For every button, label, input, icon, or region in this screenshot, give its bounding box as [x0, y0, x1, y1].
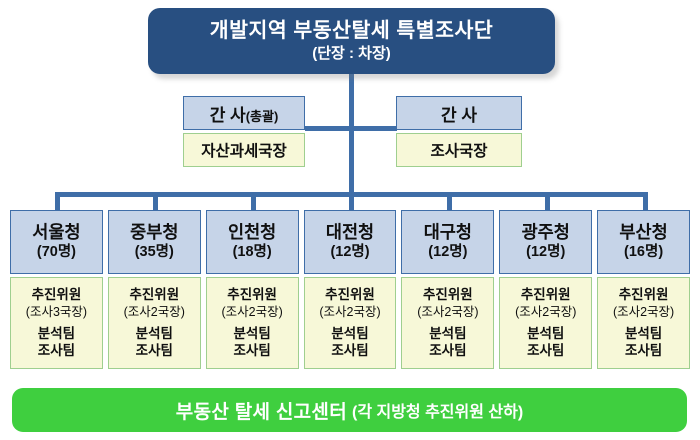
region-teams-incheon: 분석팀 조사팀 — [234, 326, 271, 359]
region-role-busan: 추진위원 — [619, 287, 669, 304]
region-team2-gwangju: 조사팀 — [527, 343, 564, 359]
region-team2-daejeon: 조사팀 — [331, 343, 368, 359]
region-column-daejeon: 대전청 (12명) 추진위원 (조사2국장) 분석팀 조사팀 — [304, 210, 397, 369]
region-head-seoul: 서울청 (70명) — [10, 210, 103, 274]
secretary-body-general: 자산과세국장 — [183, 133, 305, 167]
region-role-sub-daejeon: (조사2국장) — [319, 304, 380, 320]
org-chart: 개발지역 부동산탈세 특별조사단 (단장 : 차장) 간 사(총괄) 자산과세국… — [0, 0, 700, 440]
region-count-busan: (16명) — [624, 244, 663, 261]
region-team2-jungbu: 조사팀 — [136, 343, 173, 359]
connector-drop-6 — [545, 192, 550, 212]
region-count-seoul: (70명) — [37, 244, 76, 261]
region-role-sub-jungbu: (조사2국장) — [124, 304, 185, 320]
connector-drop-2 — [153, 192, 158, 212]
region-body-daegu: 추진위원 (조사2국장) 분석팀 조사팀 — [401, 277, 494, 369]
org-title-box: 개발지역 부동산탈세 특별조사단 (단장 : 차장) — [148, 8, 555, 74]
region-head-jungbu: 중부청 (35명) — [108, 210, 201, 274]
region-body-jungbu: 추진위원 (조사2국장) 분석팀 조사팀 — [108, 277, 201, 369]
region-count-daegu: (12명) — [428, 244, 467, 261]
region-role-jungbu: 추진위원 — [129, 287, 179, 304]
region-team2-seoul: 조사팀 — [38, 343, 75, 359]
region-role-incheon: 추진위원 — [227, 287, 277, 304]
connector-secretary-left — [305, 126, 352, 131]
region-role-seoul: 추진위원 — [32, 287, 82, 304]
region-body-incheon: 추진위원 (조사2국장) 분석팀 조사팀 — [206, 277, 299, 369]
regional-office-row: 서울청 (70명) 추진위원 (조사3국장) 분석팀 조사팀 중부청 (35명)… — [10, 210, 690, 369]
region-column-jungbu: 중부청 (35명) 추진위원 (조사2국장) 분석팀 조사팀 — [108, 210, 201, 369]
region-name-gwangju: 광주청 — [522, 223, 570, 242]
connector-secretary-right — [349, 126, 397, 131]
region-name-busan: 부산청 — [619, 223, 667, 242]
secretary-head-investigation-label: 간 사 — [441, 101, 477, 126]
region-role-sub-gwangju: (조사2국장) — [515, 304, 576, 320]
region-name-seoul: 서울청 — [32, 223, 80, 242]
region-teams-gwangju: 분석팀 조사팀 — [527, 326, 564, 359]
region-team1-seoul: 분석팀 — [38, 326, 75, 342]
region-team1-jungbu: 분석팀 — [136, 326, 173, 342]
region-team2-daegu: 조사팀 — [429, 343, 466, 359]
region-head-gwangju: 광주청 (12명) — [499, 210, 592, 274]
connector-drop-1 — [55, 192, 60, 212]
region-team1-incheon: 분석팀 — [234, 326, 271, 342]
org-title-sub: (단장 : 차장) — [312, 45, 391, 63]
region-column-seoul: 서울청 (70명) 추진위원 (조사3국장) 분석팀 조사팀 — [10, 210, 103, 369]
secretary-body-general-label: 자산과세국장 — [201, 139, 287, 161]
region-head-daegu: 대구청 (12명) — [401, 210, 494, 274]
region-body-gwangju: 추진위원 (조사2국장) 분석팀 조사팀 — [499, 277, 592, 369]
secretary-head-general-label: 간 사(총괄) — [210, 101, 279, 126]
region-count-daejeon: (12명) — [330, 244, 369, 261]
region-team1-daejeon: 분석팀 — [331, 326, 368, 342]
region-role-sub-busan: (조사2국장) — [613, 304, 674, 320]
region-name-daejeon: 대전청 — [326, 223, 374, 242]
region-role-gwangju: 추진위원 — [521, 287, 571, 304]
region-column-daegu: 대구청 (12명) 추진위원 (조사2국장) 분석팀 조사팀 — [401, 210, 494, 369]
region-count-incheon: (18명) — [233, 244, 272, 261]
region-teams-jungbu: 분석팀 조사팀 — [136, 326, 173, 359]
connector-drop-3 — [251, 192, 256, 212]
region-teams-daegu: 분석팀 조사팀 — [429, 326, 466, 359]
region-count-gwangju: (12명) — [526, 244, 565, 261]
report-center-bar: 부동산 탈세 신고센터 (각 지방청 추진위원 산하) — [12, 388, 687, 432]
region-teams-seoul: 분석팀 조사팀 — [38, 326, 75, 359]
region-team1-daegu: 분석팀 — [429, 326, 466, 342]
region-team1-busan: 분석팀 — [625, 326, 662, 342]
secretary-body-investigation-label: 조사국장 — [430, 139, 487, 161]
secretary-head-general-suffix: (총괄) — [246, 109, 279, 124]
region-role-sub-incheon: (조사2국장) — [222, 304, 283, 320]
region-team2-busan: 조사팀 — [625, 343, 662, 359]
connector-title-to-bus — [349, 74, 354, 194]
region-head-daejeon: 대전청 (12명) — [304, 210, 397, 274]
region-team1-gwangju: 분석팀 — [527, 326, 564, 342]
region-teams-daejeon: 분석팀 조사팀 — [331, 326, 368, 359]
connector-drop-5 — [447, 192, 452, 212]
region-name-jungbu: 중부청 — [130, 223, 178, 242]
connector-drop-7 — [643, 192, 648, 212]
region-column-busan: 부산청 (16명) 추진위원 (조사2국장) 분석팀 조사팀 — [597, 210, 690, 369]
report-center-title: 부동산 탈세 신고센터 — [176, 397, 347, 424]
org-title-main: 개발지역 부동산탈세 특별조사단 — [210, 19, 493, 43]
region-role-sub-seoul: (조사3국장) — [26, 304, 87, 320]
secretary-group-general: 간 사(총괄) 자산과세국장 — [183, 96, 305, 167]
region-name-incheon: 인천청 — [228, 223, 276, 242]
region-team2-incheon: 조사팀 — [234, 343, 271, 359]
connector-drop-4 — [349, 192, 354, 212]
region-teams-busan: 분석팀 조사팀 — [625, 326, 662, 359]
secretary-head-investigation: 간 사 — [396, 96, 522, 130]
secretary-body-investigation: 조사국장 — [396, 133, 522, 167]
region-role-sub-daegu: (조사2국장) — [417, 304, 478, 320]
region-column-incheon: 인천청 (18명) 추진위원 (조사2국장) 분석팀 조사팀 — [206, 210, 299, 369]
region-head-incheon: 인천청 (18명) — [206, 210, 299, 274]
region-count-jungbu: (35명) — [135, 244, 174, 261]
region-role-daejeon: 추진위원 — [325, 287, 375, 304]
report-center-subtitle: (각 지방청 추진위원 산하) — [352, 398, 523, 422]
region-body-daejeon: 추진위원 (조사2국장) 분석팀 조사팀 — [304, 277, 397, 369]
secretary-head-general: 간 사(총괄) — [183, 96, 305, 130]
region-body-busan: 추진위원 (조사2국장) 분석팀 조사팀 — [597, 277, 690, 369]
region-body-seoul: 추진위원 (조사3국장) 분석팀 조사팀 — [10, 277, 103, 369]
region-column-gwangju: 광주청 (12명) 추진위원 (조사2국장) 분석팀 조사팀 — [499, 210, 592, 369]
region-name-daegu: 대구청 — [424, 223, 472, 242]
region-role-daegu: 추진위원 — [423, 287, 473, 304]
secretary-group-investigation: 간 사 조사국장 — [396, 96, 522, 167]
region-head-busan: 부산청 (16명) — [597, 210, 690, 274]
